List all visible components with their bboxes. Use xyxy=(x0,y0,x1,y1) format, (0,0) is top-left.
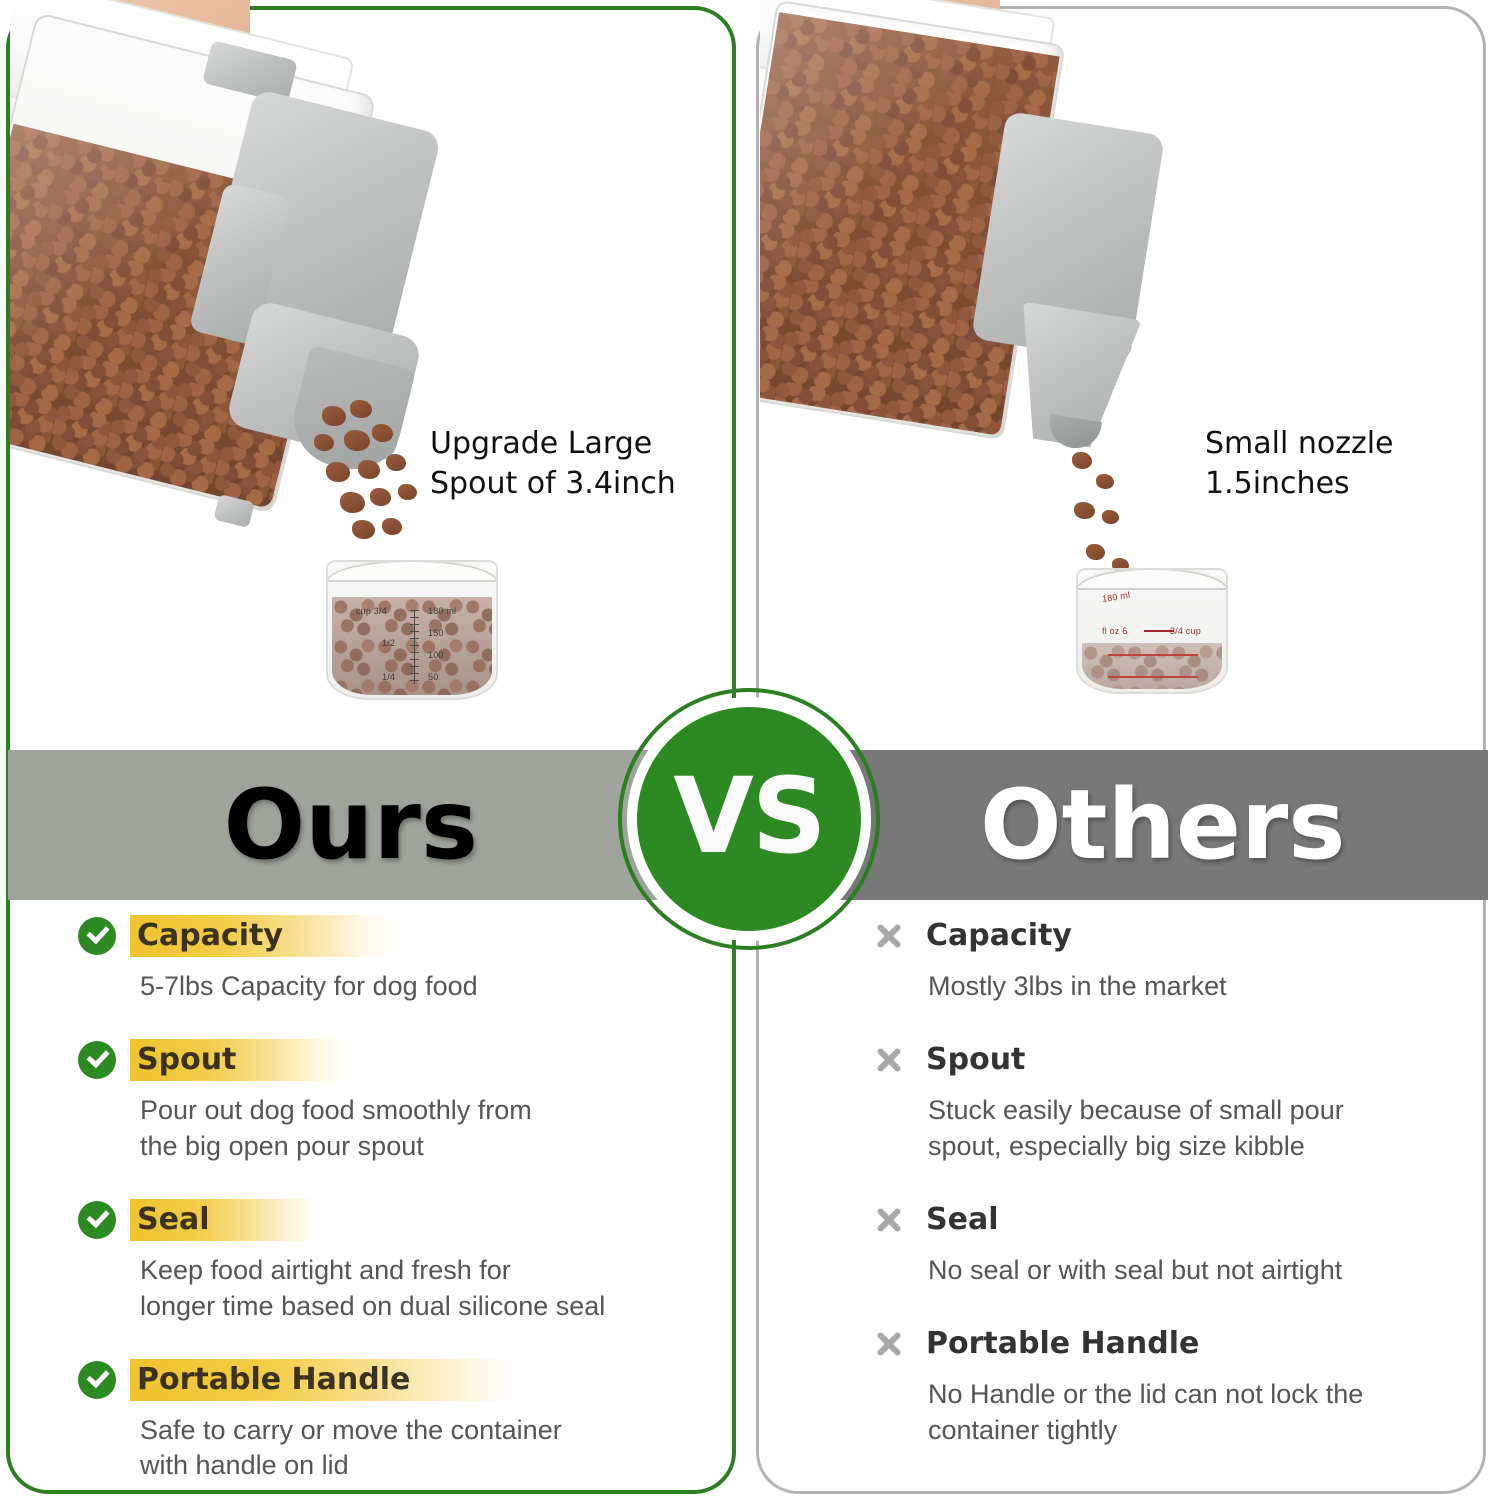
feature-description: No seal or with seal but not airtight xyxy=(928,1253,1452,1289)
others-product-photo: 180 ml fl oz 6 3/4 cup Small nozzle 1.5i… xyxy=(760,0,1482,740)
cross-icon xyxy=(872,919,906,953)
cup-contents-others xyxy=(1082,643,1222,689)
feature-title: Spout xyxy=(130,1039,346,1081)
cross-icon xyxy=(872,1043,906,1077)
cup-label-right-0: 180 ml xyxy=(428,606,456,616)
feature-heading: Portable Handle xyxy=(872,1323,1452,1365)
cup-label-right-2: 100 xyxy=(428,650,444,660)
feature-item: Spout Stuck easily because of small pour… xyxy=(872,1039,1452,1165)
feature-heading: Spout xyxy=(78,1039,688,1081)
feature-heading: Seal xyxy=(872,1199,1452,1241)
feature-description: Stuck easily because of small pour spout… xyxy=(928,1093,1452,1165)
measuring-cup-ours: cup 3/4 1/2 1/4 180 ml 150 100 50 xyxy=(326,560,498,700)
cup-rim-ours xyxy=(326,560,498,582)
measuring-cup-others: 180 ml fl oz 6 3/4 cup xyxy=(1076,568,1228,694)
cup-label-right-1: 150 xyxy=(428,628,444,638)
feature-description: Mostly 3lbs in the market xyxy=(928,969,1452,1005)
cup-label-left-1: 1/2 xyxy=(382,638,395,648)
cup-tick-others xyxy=(1144,630,1174,632)
check-icon xyxy=(78,917,116,955)
feature-title: Portable Handle xyxy=(924,1324,1199,1364)
kibble-stream-others xyxy=(1060,448,1170,588)
cup-tick-ladder-ours xyxy=(414,610,415,684)
comparison-infographic: cup 3/4 1/2 1/4 180 ml 150 100 50 Upgrad… xyxy=(0,0,1492,1500)
vs-circle: VS xyxy=(637,707,861,931)
feature-description: No Handle or the lid can not lock the co… xyxy=(928,1377,1452,1449)
feature-item: Portable Handle No Handle or the lid can… xyxy=(872,1323,1452,1449)
cup-label-left-others: fl oz 6 xyxy=(1102,626,1127,636)
feature-heading: Capacity xyxy=(872,915,1452,957)
feature-title: Capacity xyxy=(924,916,1072,956)
check-icon xyxy=(78,1041,116,1079)
feature-description: Safe to carry or move the container with… xyxy=(140,1413,688,1485)
ours-header-title: Ours xyxy=(224,777,478,873)
ours-photo-caption: Upgrade Large Spout of 3.4inch xyxy=(430,424,676,503)
others-feature-list: Capacity Mostly 3lbs in the market Spout… xyxy=(872,915,1452,1448)
ours-feature-list: Capacity 5-7lbs Capacity for dog food Sp… xyxy=(78,915,688,1484)
feature-heading: Seal xyxy=(78,1199,688,1241)
vs-badge: VS xyxy=(618,688,880,950)
cup-tick3-others xyxy=(1108,676,1198,678)
vs-label: VS xyxy=(673,764,824,868)
check-icon xyxy=(78,1201,116,1239)
feature-item: Portable Handle Safe to carry or move th… xyxy=(78,1359,688,1485)
feature-item: Seal Keep food airtight and fresh for lo… xyxy=(78,1199,688,1325)
feature-title: Capacity xyxy=(130,915,393,957)
cup-tick2-others xyxy=(1108,654,1198,656)
cup-label-left-0: cup 3/4 xyxy=(356,606,387,616)
check-icon xyxy=(78,1361,116,1399)
feature-item: Capacity Mostly 3lbs in the market xyxy=(872,915,1452,1005)
feature-description: 5-7lbs Capacity for dog food xyxy=(140,969,688,1005)
feature-title: Spout xyxy=(924,1040,1025,1080)
feature-description: Pour out dog food smoothly from the big … xyxy=(140,1093,688,1165)
feature-item: Spout Pour out dog food smoothly from th… xyxy=(78,1039,688,1165)
cross-icon xyxy=(872,1203,906,1237)
feature-title: Portable Handle xyxy=(130,1359,520,1401)
others-photo-caption: Small nozzle 1.5inches xyxy=(1205,424,1394,503)
feature-item: Seal No seal or with seal but not airtig… xyxy=(872,1199,1452,1289)
feature-title: Seal xyxy=(130,1199,319,1241)
feature-heading: Portable Handle xyxy=(78,1359,688,1401)
feature-heading: Spout xyxy=(872,1039,1452,1081)
cup-label-right-others: 3/4 cup xyxy=(1170,626,1201,636)
feature-heading: Capacity xyxy=(78,915,688,957)
feature-description: Keep food airtight and fresh for longer … xyxy=(140,1253,688,1325)
feature-title: Seal xyxy=(924,1200,998,1240)
cup-label-left-2: 1/4 xyxy=(382,672,395,682)
cup-label-top-others: 180 ml xyxy=(1101,590,1130,604)
cup-rim-others xyxy=(1076,568,1228,590)
cross-icon xyxy=(872,1327,906,1361)
cup-label-right-3: 50 xyxy=(428,672,438,682)
ours-product-photo: cup 3/4 1/2 1/4 180 ml 150 100 50 Upgrad… xyxy=(10,0,732,740)
others-header-title: Others xyxy=(980,777,1345,873)
feature-item: Capacity 5-7lbs Capacity for dog food xyxy=(78,915,688,1005)
